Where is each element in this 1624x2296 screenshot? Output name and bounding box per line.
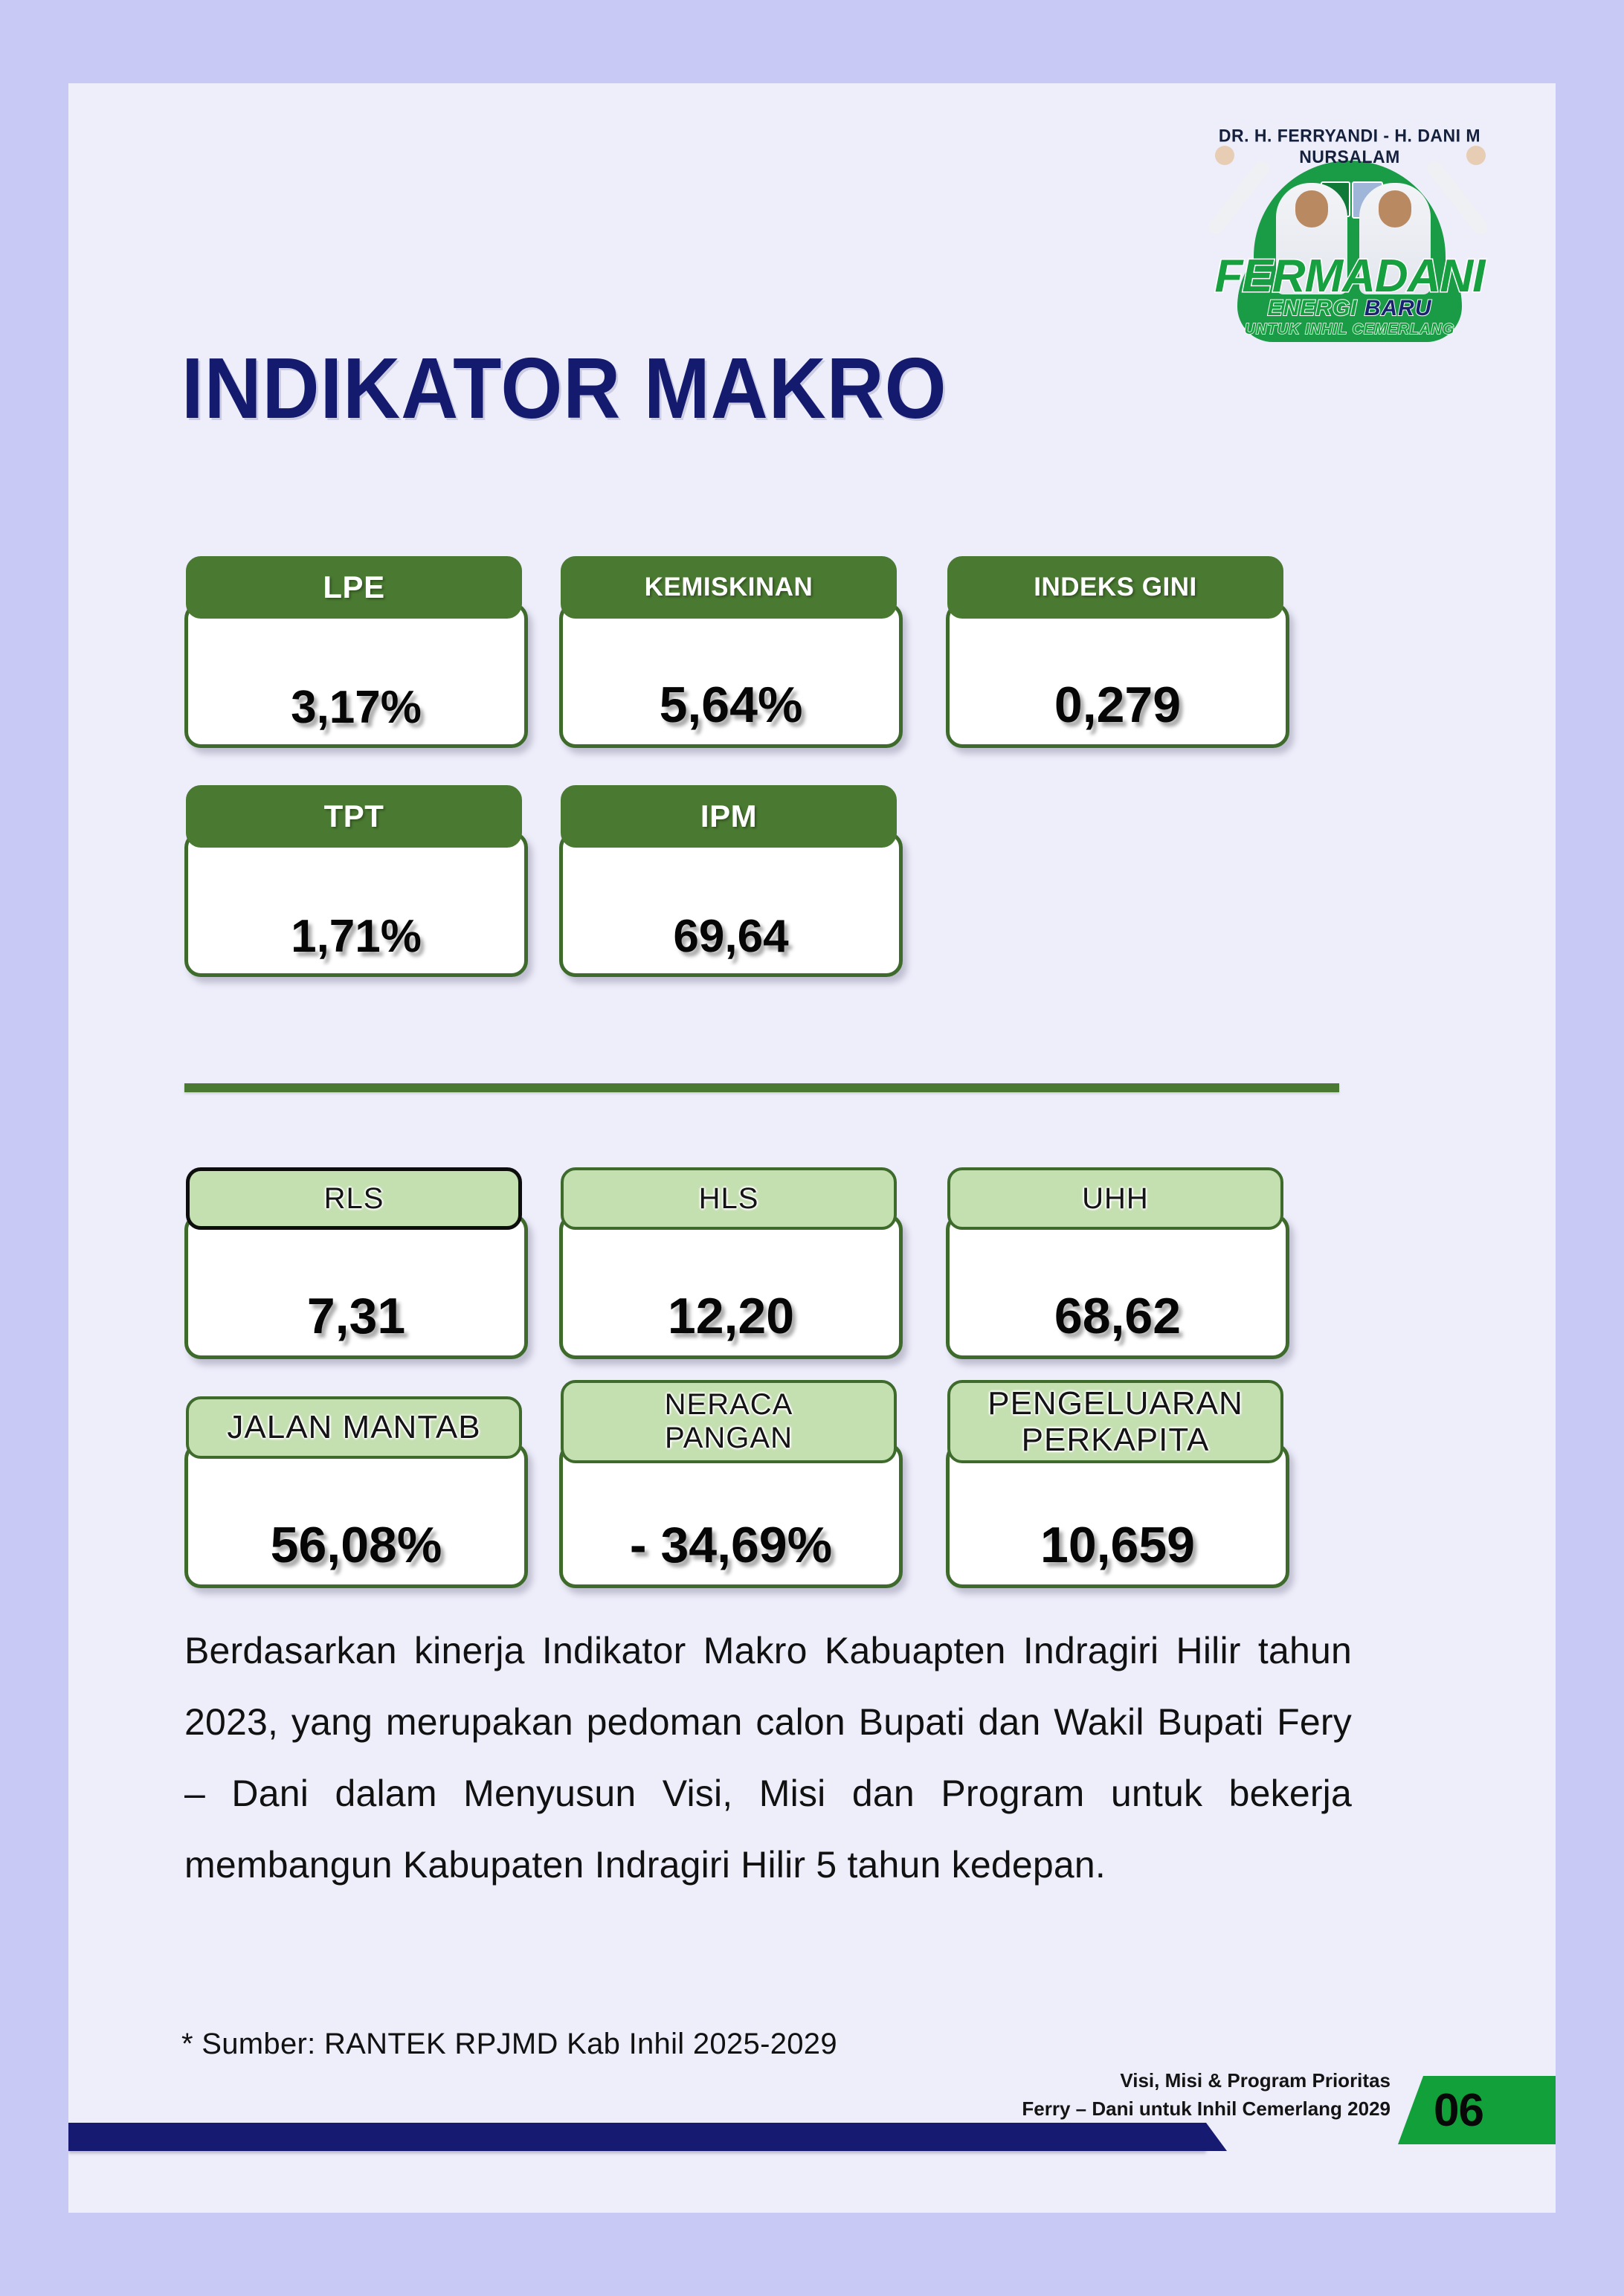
indicator-value-rls: 7,31	[307, 1287, 405, 1345]
indicator-body-lpe: 3,17%	[184, 602, 528, 748]
page-number: 06	[1434, 2084, 1483, 2137]
section-divider	[184, 1083, 1339, 1092]
indicator-card-ipm[interactable]: IPM 69,64	[559, 831, 903, 977]
indicator-body-jalan-mantab: 56,08%	[184, 1442, 528, 1588]
slide-page: DR. H. FERRYANDI - H. DANI M NURSALAM PK…	[68, 83, 1556, 2213]
indicator-value-lpe: 3,17%	[291, 681, 422, 734]
indicator-value-uhh: 68,62	[1054, 1287, 1181, 1345]
indicator-card-uhh[interactable]: UHH 68,62	[946, 1213, 1289, 1359]
indicator-label-neraca-pangan: NERACA PANGAN	[561, 1380, 897, 1463]
indicator-label-pengeluaran-perkapita-line2: PERKAPITA	[987, 1422, 1243, 1458]
footer-caption-line2: Ferry – Dani untuk Inhil Cemerlang 2029	[825, 2095, 1391, 2124]
indicator-card-indeks-gini[interactable]: INDEKS GINI 0,279	[946, 602, 1289, 748]
indicator-body-hls: 12,20	[559, 1213, 903, 1359]
indicator-body-indeks-gini: 0,279	[946, 602, 1289, 748]
indicator-body-uhh: 68,62	[946, 1213, 1289, 1359]
indicator-card-jalan-mantab[interactable]: JALAN MANTAB 56,08%	[184, 1442, 528, 1588]
indicator-card-tpt[interactable]: TPT 1,71%	[184, 831, 528, 977]
indicator-label-jalan-mantab: JALAN MANTAB	[186, 1396, 522, 1459]
indicator-value-neraca-pangan: - 34,69%	[630, 1516, 832, 1574]
indicator-label-neraca-pangan-line2: PANGAN	[665, 1422, 793, 1455]
page-number-badge: 06	[1398, 2076, 1556, 2144]
indicator-card-neraca-pangan[interactable]: NERACA PANGAN - 34,69%	[559, 1442, 903, 1588]
indicator-body-ipm: 69,64	[559, 831, 903, 977]
indicator-value-tpt: 1,71%	[291, 910, 422, 963]
indicator-card-hls[interactable]: HLS 12,20	[559, 1213, 903, 1359]
slide-frame: DR. H. FERRYANDI - H. DANI M NURSALAM PK…	[0, 0, 1624, 2296]
indicator-card-rls[interactable]: RLS 7,31	[184, 1213, 528, 1359]
indicator-label-pengeluaran-perkapita-line1: PENGELUARAN	[987, 1385, 1243, 1422]
indicator-label-neraca-pangan-line1: NERACA	[665, 1388, 793, 1422]
indicator-body-kemiskinan: 5,64%	[559, 602, 903, 748]
indicator-body-rls: 7,31	[184, 1213, 528, 1359]
indicator-label-uhh: UHH	[947, 1167, 1283, 1230]
indicator-label-pengeluaran-perkapita: PENGELUARAN PERKAPITA	[947, 1380, 1283, 1463]
indicator-body-tpt: 1,71%	[184, 831, 528, 977]
indicator-label-hls: HLS	[561, 1167, 897, 1230]
indicator-value-ipm: 69,64	[673, 910, 788, 963]
indicator-label-rls: RLS	[186, 1167, 522, 1230]
footer-accent-bar	[68, 2123, 1206, 2151]
indicator-card-lpe[interactable]: LPE 3,17%	[184, 602, 528, 748]
indicator-label-tpt: TPT	[186, 785, 522, 848]
source-note: * Sumber: RANTEK RPJMD Kab Inhil 2025-20…	[181, 2028, 837, 2061]
indicator-label-kemiskinan: KEMISKINAN	[561, 556, 897, 619]
indicator-label-ipm: IPM	[561, 785, 897, 848]
footer-caption: Visi, Misi & Program Prioritas Ferry – D…	[825, 2067, 1391, 2123]
indicator-value-indeks-gini: 0,279	[1054, 676, 1181, 734]
indicator-label-lpe: LPE	[186, 556, 522, 619]
description-paragraph: Berdasarkan kinerja Indikator Makro Kabu…	[184, 1615, 1352, 1900]
indicator-label-indeks-gini: INDEKS GINI	[947, 556, 1283, 619]
indicator-body-neraca-pangan: - 34,69%	[559, 1442, 903, 1588]
indicator-value-hls: 12,20	[668, 1287, 794, 1345]
indicator-card-kemiskinan[interactable]: KEMISKINAN 5,64%	[559, 602, 903, 748]
footer-caption-line1: Visi, Misi & Program Prioritas	[825, 2067, 1391, 2095]
indicator-body-pengeluaran-perkapita: 10,659	[946, 1442, 1289, 1588]
indicator-value-pengeluaran-perkapita: 10,659	[1040, 1516, 1195, 1574]
indicator-value-jalan-mantab: 56,08%	[271, 1516, 442, 1574]
indicator-card-pengeluaran-perkapita[interactable]: PENGELUARAN PERKAPITA 10,659	[946, 1442, 1289, 1588]
indicator-value-kemiskinan: 5,64%	[660, 676, 803, 734]
